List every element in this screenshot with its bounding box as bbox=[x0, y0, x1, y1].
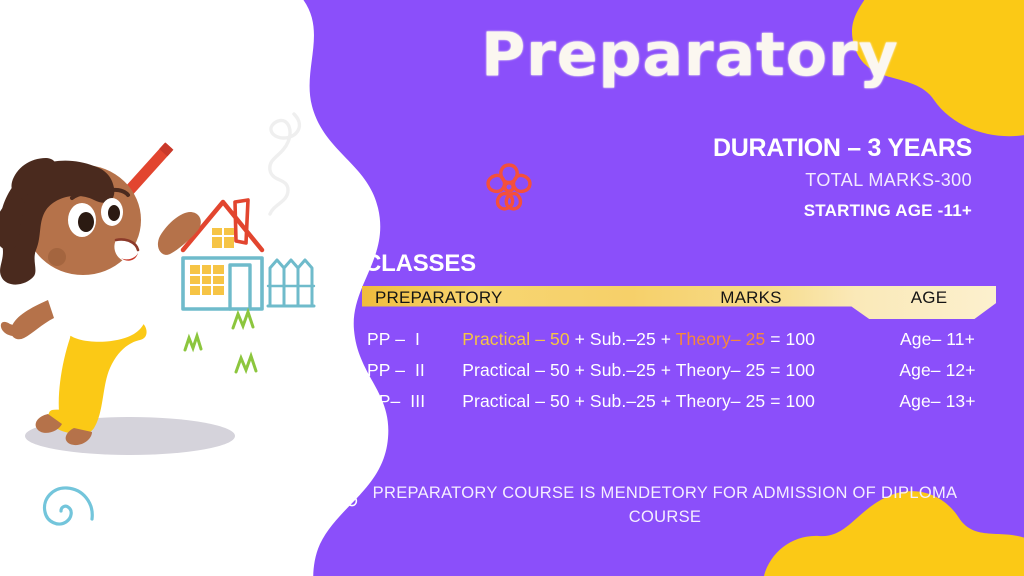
decor-blob-top-left bbox=[0, 0, 130, 180]
marks-segment: Practical – 50 bbox=[462, 329, 569, 349]
classes-label: CLASSES bbox=[364, 250, 476, 278]
cell-age: Age– 12+ bbox=[879, 360, 996, 381]
cell-marks-breakdown: Practical – 50 + Sub.–25 + Theory– 25 = … bbox=[462, 391, 879, 412]
marks-segment: Practical – 50 + Sub.–25 + Theory– 25 = … bbox=[462, 360, 815, 380]
table-header-bar: PREPARATORY MARKS AGE bbox=[362, 286, 996, 319]
page-title: Preparatory bbox=[360, 22, 1020, 88]
decor-flower-red-icon bbox=[478, 155, 540, 217]
slide-canvas: Preparatory DURATION – 3 YEARS TOTAL MAR… bbox=[0, 0, 1024, 576]
marks-segment: + Sub.–25 + bbox=[570, 329, 676, 349]
table-row: PP – IIPractical – 50 + Sub.–25 + Theory… bbox=[362, 360, 996, 391]
column-header-age: AGE bbox=[869, 286, 989, 309]
marks-segment: Practical – 50 + Sub.–25 + Theory– 25 = … bbox=[462, 391, 815, 411]
cell-marks-breakdown: Practical – 50 + Sub.–25 + Theory– 25 = … bbox=[462, 329, 879, 350]
cell-age: Age– 11+ bbox=[879, 329, 996, 350]
table-row: PP – IPractical – 50 + Sub.–25 + Theory–… bbox=[362, 329, 996, 360]
table-row: PP– IIIPractical – 50 + Sub.–25 + Theory… bbox=[362, 391, 996, 422]
course-info-block: DURATION – 3 YEARS TOTAL MARKS-300 START… bbox=[713, 134, 972, 221]
cell-class-name: PP – I bbox=[362, 329, 462, 350]
marks-segment: Theory– 25 bbox=[676, 329, 766, 349]
cell-marks-breakdown: Practical – 50 + Sub.–25 + Theory– 25 = … bbox=[462, 360, 879, 381]
decor-flower-white-icon bbox=[333, 478, 361, 508]
decor-squiggle-icon bbox=[248, 112, 308, 222]
table-rows: PP – IPractical – 50 + Sub.–25 + Theory–… bbox=[362, 329, 996, 422]
column-header-marks: MARKS bbox=[633, 286, 869, 309]
decor-spiral-icon bbox=[26, 476, 96, 546]
info-total-marks: TOTAL MARKS-300 bbox=[713, 170, 972, 191]
illustration-child-drawing-house bbox=[0, 110, 320, 460]
marks-segment: = 100 bbox=[765, 329, 815, 349]
column-header-preparatory: PREPARATORY bbox=[362, 286, 633, 309]
cell-age: Age– 13+ bbox=[879, 391, 996, 412]
classes-table: PREPARATORY MARKS AGE PP – IPractical – … bbox=[362, 286, 996, 422]
cell-class-name: PP – II bbox=[362, 360, 462, 381]
cell-class-name: PP– III bbox=[362, 391, 462, 412]
info-duration: DURATION – 3 YEARS bbox=[713, 134, 972, 163]
footer-note: PREPARATORY COURSE IS MENDETORY FOR ADMI… bbox=[372, 482, 958, 530]
info-starting-age: STARTING AGE -11+ bbox=[713, 201, 972, 221]
